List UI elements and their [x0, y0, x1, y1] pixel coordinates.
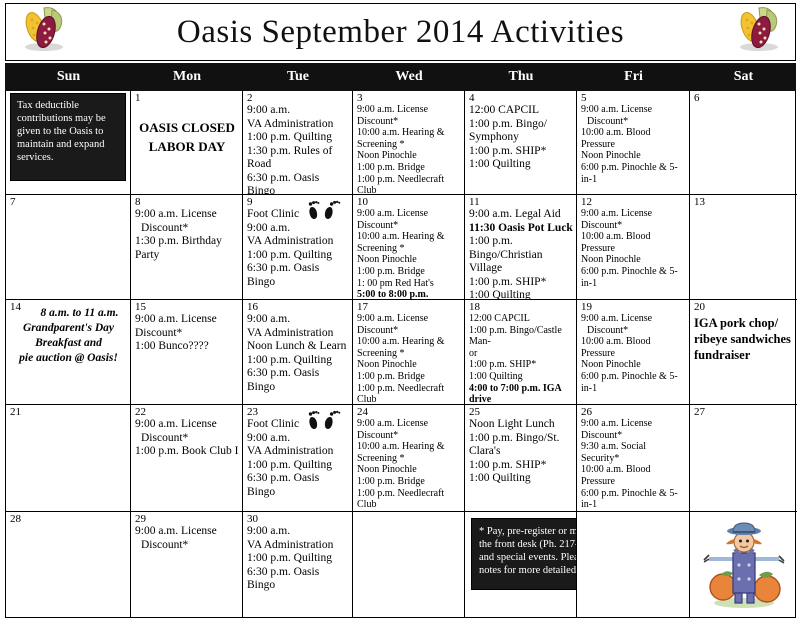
day-number: 13	[694, 196, 794, 208]
event-text: Discount*	[581, 220, 686, 232]
day-cell-22[interactable]: 229:00 a.m. LicenseDiscount*1:00 p.m. Bo…	[131, 405, 243, 512]
event-text: 4:00 to 7:00 p.m. IGA drive	[469, 383, 573, 405]
day-number: 25	[469, 406, 573, 418]
day-cell-7[interactable]: 7	[6, 195, 131, 300]
day-cell-17[interactable]: 179:00 a.m. License Discount*10:00 a.m. …	[353, 300, 465, 405]
event-text: Clara's	[469, 445, 573, 459]
event-text: 6:30 p.m. Oasis Bingo	[247, 262, 349, 289]
event-text: VA Administration	[247, 327, 349, 341]
event-text: 1:00 p.m. Quilting	[247, 249, 349, 263]
event-text: Noon Pinochle	[581, 150, 686, 162]
day-number: 27	[694, 406, 794, 418]
event-text: Discount*	[135, 222, 239, 236]
event-text: Discount*	[135, 539, 239, 553]
event-text: VA Administration	[247, 118, 349, 132]
day-cell-2[interactable]: 29:00 a.m.VA Administration1:00 p.m. Qui…	[243, 91, 353, 195]
event-text: VA Administration	[247, 445, 349, 459]
event-text: 5:00 to 8:00 p.m. Culver's	[357, 289, 461, 300]
day-cell-30[interactable]: 309:00 a.m.VA Administration1:00 p.m. Qu…	[243, 512, 353, 617]
event-text: 6:30 p.m. Oasis Bingo	[247, 367, 349, 394]
day-cell-26[interactable]: 269:00 a.m. LicenseDiscount*9:30 a.m. So…	[577, 405, 690, 512]
event-text: Noon Pinochle	[357, 464, 461, 476]
event-text: 9:00 a.m.	[247, 313, 349, 327]
event-text: 6:00 p.m. Pinochle & 5-in-1	[581, 266, 686, 289]
footprints-icon	[306, 408, 346, 434]
day-cell-15[interactable]: 159:00 a.m. LicenseDiscount*1:00 Bunco??…	[131, 300, 243, 405]
weekday-header-thu: Thu	[465, 64, 577, 90]
closed-notice-line: OASIS CLOSED	[135, 118, 239, 137]
tax-note-text: Tax deductible contributions may be give…	[17, 99, 119, 164]
event-text: 1:00 p.m. Quilting	[247, 131, 349, 145]
event-text: 1:00 p.m. Bridge	[357, 371, 461, 383]
day-cell-16[interactable]: 169:00 a.m.VA AdministrationNoon Lunch &…	[243, 300, 353, 405]
day-cell-empty[interactable]	[353, 512, 465, 617]
event-text: Party	[135, 249, 239, 263]
closed-notice-line: LABOR DAY	[135, 137, 239, 156]
event-text: 1:00 p.m. Quilting	[247, 552, 349, 566]
day-cell-23[interactable]: 23Foot Clinic9:00 a.m.VA Administration1…	[243, 405, 353, 512]
day-cell-9[interactable]: 9Foot Clinic9:00 a.m.VA Administration1:…	[243, 195, 353, 300]
weekday-header-wed: Wed	[353, 64, 465, 90]
event-text: Pressure	[581, 476, 686, 488]
event-text: 1:00 Quilting	[469, 371, 573, 383]
day-cell-19[interactable]: 199:00 a.m. LicenseDiscount*10:00 a.m. B…	[577, 300, 690, 405]
event-text: 9:00 a.m.	[247, 525, 349, 539]
scarecrow-cell	[690, 512, 797, 617]
day-number: 4	[469, 92, 573, 104]
event-text: Noon Lunch & Learn	[247, 340, 349, 354]
event-text: 1:00 Quilting	[469, 472, 573, 486]
event-text: Symphony	[469, 131, 573, 145]
event-text: 1:00 p.m. SHIP*	[469, 145, 573, 159]
event-text: 12:00 CAPCIL	[469, 104, 573, 118]
footer-note-cell: * Pay, pre-register or make an appointme…	[465, 512, 577, 617]
day-cell-13[interactable]: 13	[690, 195, 797, 300]
event-text: 10:00 a.m. Hearing &	[357, 127, 461, 139]
event-text: Village	[469, 262, 573, 276]
day-cell-3[interactable]: 39:00 a.m. License Discount*10:00 a.m. H…	[353, 91, 465, 195]
event-text: 1:00 p.m. Bingo/St.	[469, 432, 573, 446]
event-text: 6:00 p.m. Pinochle & 5-in-1	[581, 371, 686, 394]
event-text: 11:30 Oasis Pot Luck	[469, 222, 573, 236]
footprints-icon	[306, 198, 346, 224]
event-text: 9:00 a.m. License	[135, 418, 239, 432]
event-text: 6:30 p.m. Oasis Bingo	[247, 566, 349, 593]
event-text: 10:00 a.m. Hearing &	[357, 336, 461, 348]
event-text: Security*	[581, 453, 686, 465]
iga-fundraiser-line: IGA pork chop/	[694, 315, 794, 331]
calendar-title-bar: Oasis September 2014 Activities	[5, 3, 796, 61]
day-number: 10	[357, 196, 461, 208]
event-text: VA Administration	[247, 539, 349, 553]
day-cell-10[interactable]: 109:00 a.m. License Discount*10:00 a.m. …	[353, 195, 465, 300]
day-cell-4[interactable]: 412:00 CAPCIL1:00 p.m. Bingo/Symphony1:0…	[465, 91, 577, 195]
event-text: 10:00 a.m. Hearing & Screening *	[357, 231, 461, 254]
scarecrow-pumpkins-icon	[701, 519, 787, 611]
day-cell-29[interactable]: 299:00 a.m. LicenseDiscount*	[131, 512, 243, 617]
event-text: 9:30 a.m. Social	[581, 441, 686, 453]
day-number: 1	[135, 92, 239, 104]
day-cell-1[interactable]: 1OASIS CLOSEDLABOR DAY	[131, 91, 243, 195]
event-text: Pressure	[581, 139, 686, 151]
day-number: 29	[135, 513, 239, 525]
day-cell-27[interactable]: 27	[690, 405, 797, 512]
calendar-grid: Tax deductible contributions may be give…	[5, 91, 796, 618]
day-number: 11	[469, 196, 573, 208]
tax-note-cell: Tax deductible contributions may be give…	[6, 91, 131, 195]
activity-footer-note: * Pay, pre-register or make an appointme…	[471, 518, 577, 590]
event-text: Noon Pinochle	[357, 359, 461, 371]
day-number: 6	[694, 92, 794, 104]
day-number: 19	[581, 301, 686, 313]
event-text: Discount*	[581, 325, 686, 337]
event-text: 1:00 Bunco????	[135, 340, 239, 354]
calendar-page: Oasis September 2014 Activities	[0, 3, 800, 618]
day-cell-21[interactable]: 21	[6, 405, 131, 512]
event-text: Discount*	[581, 430, 686, 442]
iga-fundraiser-event: IGA pork chop/ribeye sandwichesfundraise…	[694, 315, 794, 363]
weekday-header-row: SunMonTueWedThuFriSat	[5, 63, 796, 91]
event-text: 10:00 a.m. Hearing &	[357, 441, 461, 453]
event-text: 6:00 p.m. Pinochle & 5-in-1	[581, 162, 686, 185]
grandparents-day-line: 8 a.m. to 11 a.m.	[10, 306, 127, 321]
event-text: Noon Pinochle	[581, 359, 686, 371]
weekday-header-tue: Tue	[243, 64, 353, 90]
event-text: Screening *	[357, 139, 461, 151]
day-number: 16	[247, 301, 349, 313]
day-cell-6[interactable]: 6	[690, 91, 797, 195]
event-text: Discount*	[135, 432, 239, 446]
event-text: 9:00 a.m. License	[581, 104, 686, 116]
event-text: 1:00 Quilting	[469, 158, 573, 172]
day-cell-11[interactable]: 119:00 a.m. Legal Aid11:30 Oasis Pot Luc…	[465, 195, 577, 300]
event-text: 1:00 p.m. Bridge	[357, 162, 461, 174]
event-text: 1:00 p.m. SHIP*	[469, 459, 573, 473]
event-text: 9:00 a.m. License	[135, 525, 239, 539]
event-text: Noon Pinochle	[357, 254, 461, 266]
weekday-header-sat: Sat	[690, 64, 797, 90]
event-text: 10:00 a.m. Blood	[581, 127, 686, 139]
day-cell-20[interactable]: 20IGA pork chop/ribeye sandwichesfundrai…	[690, 300, 797, 405]
tax-deductible-note: Tax deductible contributions may be give…	[10, 93, 126, 181]
day-number: 21	[10, 406, 127, 418]
event-text: 9:00 a.m. License	[581, 208, 686, 220]
event-text: 9:00 a.m. Legal Aid	[469, 208, 573, 222]
day-number: 5	[581, 92, 686, 104]
event-text: 1:00 p.m. Bingo/Castle Man-	[469, 325, 573, 348]
event-text: 12:00 CAPCIL	[469, 313, 573, 325]
event-text: 1:00 p.m. Book Club I	[135, 445, 239, 459]
footer-note-text: * Pay, pre-register or make an appointme…	[479, 525, 577, 577]
event-text: Screening *	[357, 453, 461, 465]
day-cell-24[interactable]: 249:00 a.m. License Discount*10:00 a.m. …	[353, 405, 465, 512]
event-text: 1:00 p.m. Quilting	[247, 354, 349, 368]
event-text: 6:30 p.m. Oasis Bingo	[247, 472, 349, 499]
event-text: 1:00 p.m. Bingo/	[469, 118, 573, 132]
event-text: or	[469, 348, 573, 360]
event-text: 1:30 p.m. Birthday	[135, 235, 239, 249]
event-text: Noon Pinochle	[357, 150, 461, 162]
event-text: 9:00 a.m.	[247, 104, 349, 118]
weekday-header-sun: Sun	[6, 64, 131, 90]
event-text: 10:00 a.m. Blood	[581, 336, 686, 348]
event-text: 9:00 a.m. License	[135, 313, 239, 327]
day-number: 12	[581, 196, 686, 208]
event-text: 1: 00 pm Red Hat's	[357, 278, 461, 290]
day-number: 26	[581, 406, 686, 418]
day-cell-12[interactable]: 129:00 a.m. LicenseDiscount*10:00 a.m. B…	[577, 195, 690, 300]
event-text: 10:00 a.m. Blood	[581, 231, 686, 243]
day-number: 17	[357, 301, 461, 313]
event-text: Discount*	[581, 116, 686, 128]
event-text: 9:00 a.m. License Discount*	[357, 208, 461, 231]
day-number: 22	[135, 406, 239, 418]
grandparents-day-event: 8 a.m. to 11 a.m.Grandparent's DayBreakf…	[10, 306, 127, 366]
closed-notice: OASIS CLOSEDLABOR DAY	[135, 118, 239, 156]
day-cell-empty[interactable]	[577, 512, 690, 617]
day-number: 24	[357, 406, 461, 418]
event-text: Screening *	[357, 348, 461, 360]
day-cell-18[interactable]: 1812:00 CAPCIL1:00 p.m. Bingo/Castle Man…	[465, 300, 577, 405]
event-text: 1:00 p.m. SHIP*	[469, 359, 573, 371]
day-number: 30	[247, 513, 349, 525]
day-number: 8	[135, 196, 239, 208]
day-cell-25[interactable]: 25Noon Light Lunch1:00 p.m. Bingo/St.Cla…	[465, 405, 577, 512]
day-number: 28	[10, 513, 127, 525]
day-number: 20	[694, 301, 794, 313]
event-text: 9:00 a.m. License Discount*	[357, 104, 461, 127]
iga-fundraiser-line: ribeye sandwiches	[694, 331, 794, 347]
event-text: Discount*	[135, 327, 239, 341]
event-text: 1:00 p.m. Bridge	[357, 266, 461, 278]
event-text: 1:00 p.m. Bridge	[357, 476, 461, 488]
day-number: 15	[135, 301, 239, 313]
event-text: 9:00 a.m. License Discount*	[357, 418, 461, 441]
event-text: 6:00 p.m. Pinochle & 5-in-1	[581, 488, 686, 511]
event-text: 1:00 p.m. Needlecraft Club	[357, 174, 461, 195]
event-text: 1:00 p.m. SHIP*	[469, 276, 573, 290]
day-cell-5[interactable]: 59:00 a.m. LicenseDiscount*10:00 a.m. Bl…	[577, 91, 690, 195]
corn-cob-icon	[729, 0, 787, 58]
page-title: Oasis September 2014 Activities	[177, 14, 624, 51]
weekday-header-fri: Fri	[577, 64, 690, 90]
event-text: 6:30 p.m. Oasis Bingo	[247, 172, 349, 196]
grandparents-day-line: pie auction @ Oasis!	[10, 351, 127, 366]
event-text: 9:00 a.m. License	[581, 313, 686, 325]
event-text: Noon Pinochle	[581, 254, 686, 266]
event-text: 1:30 p.m. Rules of Road	[247, 145, 349, 172]
day-cell-8[interactable]: 89:00 a.m. LicenseDiscount*1:30 p.m. Bir…	[131, 195, 243, 300]
iga-fundraiser-line: fundraiser	[694, 347, 794, 363]
corn-cob-icon	[14, 0, 72, 58]
event-text: 9:00 a.m. License	[581, 418, 686, 430]
weekday-header-mon: Mon	[131, 64, 243, 90]
event-text: 1:00 p.m. Quilting	[247, 459, 349, 473]
day-cell-28[interactable]: 28	[6, 512, 131, 617]
day-number: 18	[469, 301, 573, 313]
day-cell-14[interactable]: 148 a.m. to 11 a.m.Grandparent's DayBrea…	[6, 300, 131, 405]
event-text: 1:00 p.m. Needlecraft Club	[357, 488, 461, 511]
day-number: 2	[247, 92, 349, 104]
event-text: 10:00 a.m. Blood	[581, 464, 686, 476]
day-number: 3	[357, 92, 461, 104]
day-number: 14	[10, 301, 21, 313]
grandparents-day-line: Grandparent's Day	[10, 321, 127, 336]
grandparents-day-line: Breakfast and	[10, 336, 127, 351]
event-text: 9:00 a.m. License Discount*	[357, 313, 461, 336]
event-text: VA Administration	[247, 235, 349, 249]
event-text: 9:00 a.m. License	[135, 208, 239, 222]
event-text: Pressure	[581, 348, 686, 360]
event-text: Pressure	[581, 243, 686, 255]
event-text: Noon Light Lunch	[469, 418, 573, 432]
day-number: 7	[10, 196, 127, 208]
event-text: 1:00 p.m. Bingo/Christian	[469, 235, 573, 262]
event-text: 1:00 p.m. Needlecraft Club	[357, 383, 461, 405]
event-text: 1:00 Quilting	[469, 289, 573, 300]
